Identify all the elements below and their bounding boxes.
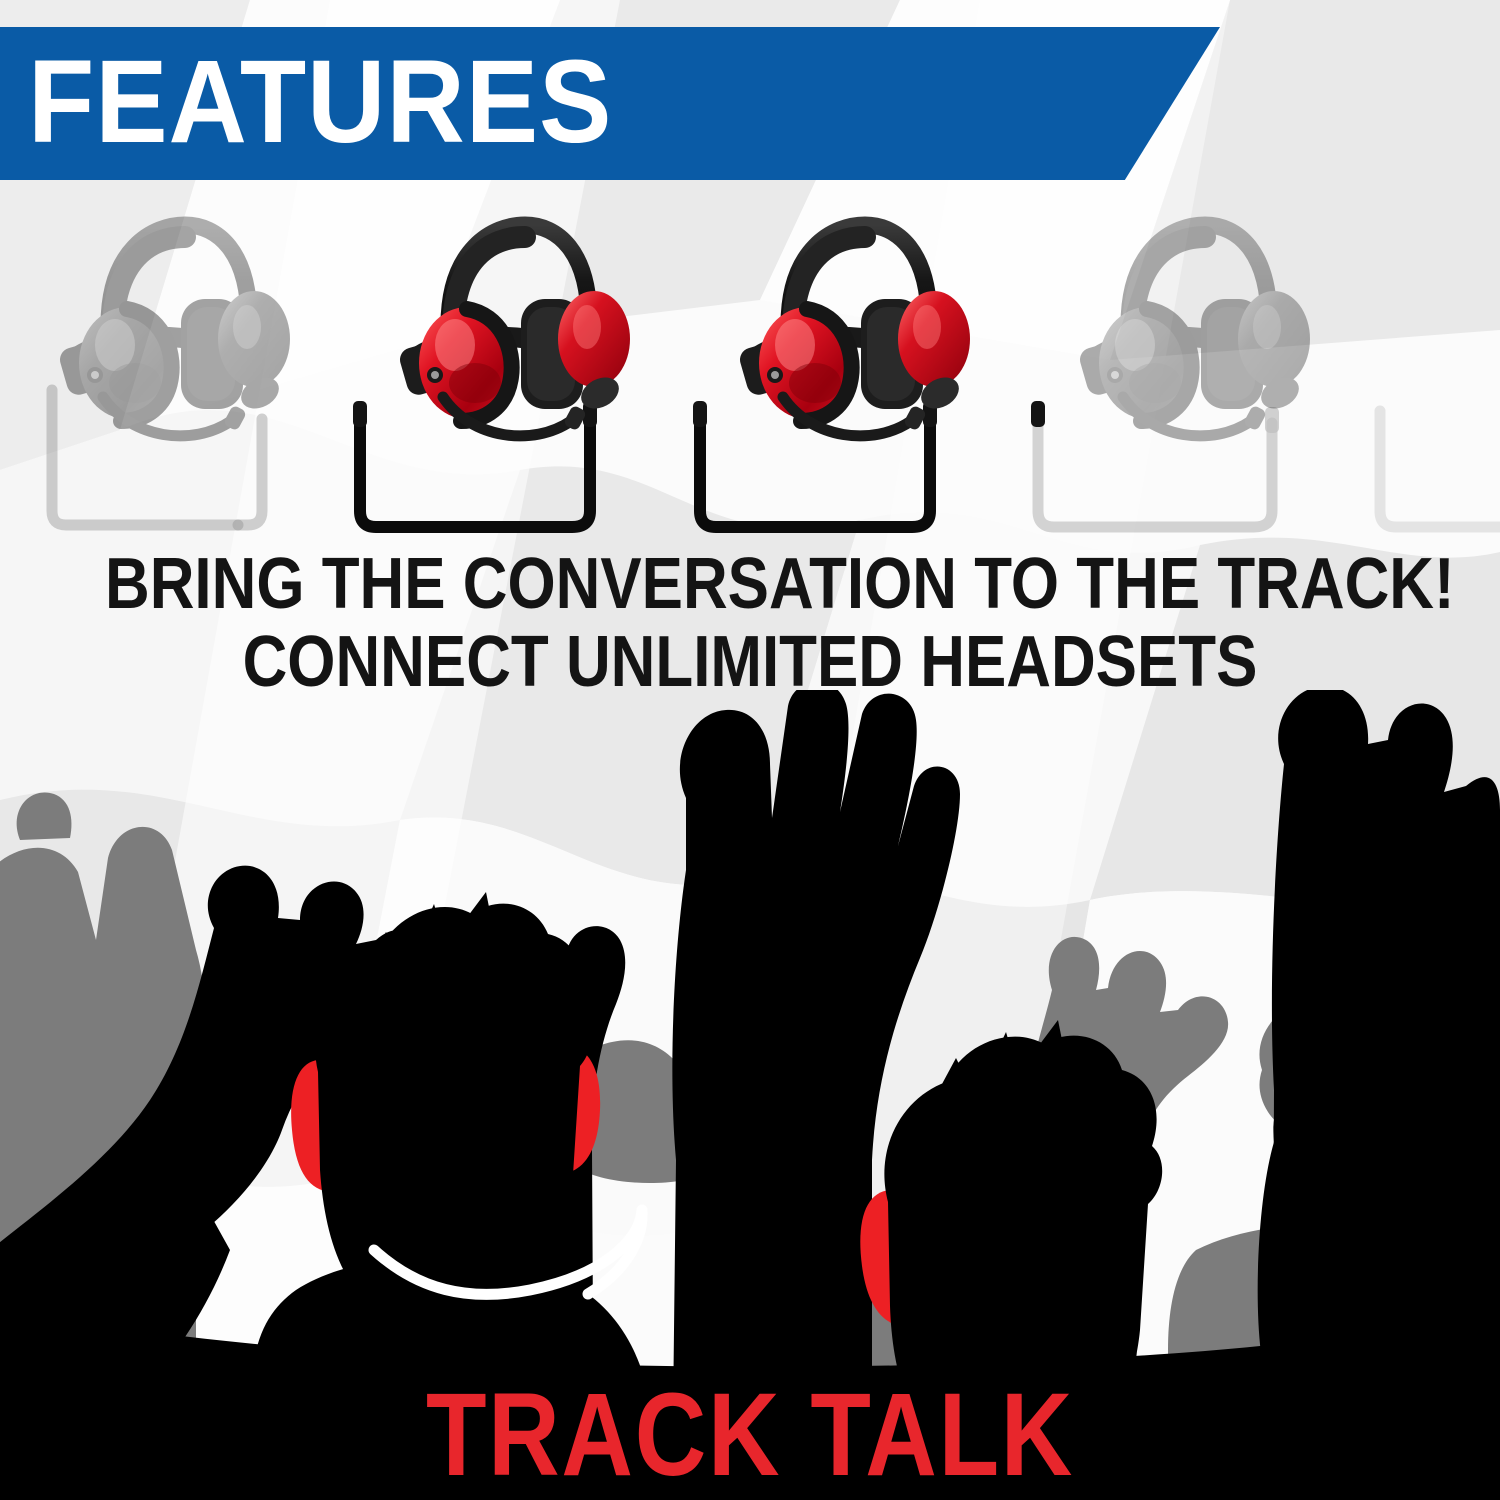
headset-3 bbox=[737, 225, 970, 436]
page-title: FEATURES bbox=[28, 43, 612, 161]
headline-line-2: CONNECT UNLIMITED HEADSETS bbox=[105, 626, 1395, 698]
headset-4 bbox=[1077, 225, 1310, 436]
headset-2 bbox=[397, 225, 630, 436]
connection-cables bbox=[52, 390, 1500, 527]
headsets-and-cables-svg bbox=[0, 215, 1500, 545]
headline-line-1: BRING THE CONVERSATION TO THE TRACK! bbox=[105, 548, 1395, 620]
features-poster: FEATURES bbox=[0, 0, 1500, 1500]
brand-wordmark: TRACK TALK bbox=[120, 1376, 1380, 1494]
features-banner: FEATURES bbox=[0, 27, 1220, 180]
headset-1 bbox=[57, 225, 290, 436]
cable-4 bbox=[1380, 411, 1500, 527]
